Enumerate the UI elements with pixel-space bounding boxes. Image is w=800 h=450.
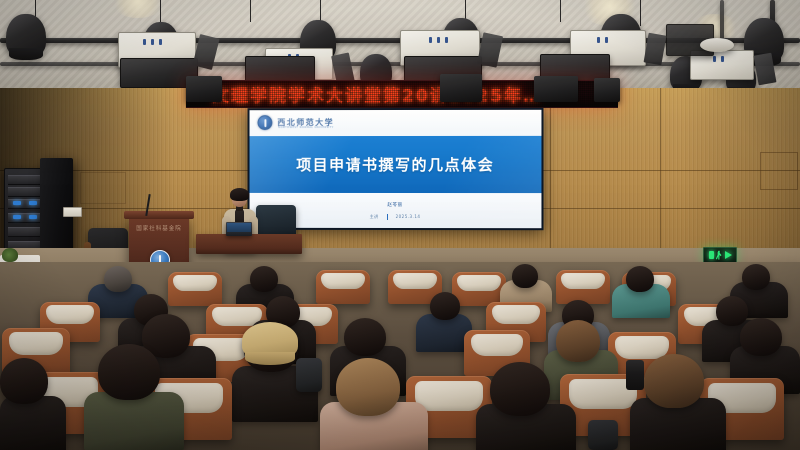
presenter-table <box>196 234 302 254</box>
audience-head <box>740 318 782 356</box>
audience-head <box>716 296 748 326</box>
audience-head <box>98 344 160 400</box>
slide-meta-divider <box>387 214 388 220</box>
audience-head <box>512 264 538 288</box>
seat <box>452 272 506 306</box>
backpack <box>588 420 618 450</box>
lamp-hang-wire <box>640 0 641 26</box>
auditorium-lecture-scene: 文理学院学术大讲堂第20讲2025年… 西北师范大学 NORTHWEST NOR… <box>0 0 800 450</box>
audience-head <box>104 266 132 292</box>
presenter-laptop <box>226 222 252 236</box>
slide-title-band: 项目申请书撰写的几点体会 <box>250 136 542 193</box>
audience-shoulders <box>84 392 184 450</box>
rack-led-display <box>29 215 37 219</box>
lamp-hang-wire <box>250 0 251 22</box>
seat <box>316 270 370 304</box>
par-can-light <box>6 14 46 58</box>
arrow-right-icon <box>725 251 732 259</box>
audience-head <box>336 358 400 416</box>
podium-top-surface <box>124 211 194 219</box>
audience-head <box>742 264 770 290</box>
audience-head <box>644 354 704 408</box>
baseball-cap <box>242 322 298 360</box>
lamp-hang-wire <box>160 0 161 24</box>
seat <box>168 272 222 306</box>
audience-head <box>490 362 550 416</box>
banner-occluding-lamp <box>594 78 620 102</box>
banner-occluding-lamp <box>534 76 578 102</box>
led-banner-text: 文理学院学术大讲堂第20讲2025年… <box>212 82 542 107</box>
rack-led-display <box>29 201 37 205</box>
lighting-truss-vertical <box>720 0 724 40</box>
audience-head <box>0 358 48 404</box>
running-person-icon <box>716 251 723 260</box>
seat <box>556 270 610 304</box>
audience-head <box>430 292 460 320</box>
water-tumbler <box>626 360 644 390</box>
potted-plant <box>2 248 18 262</box>
audience-head <box>556 320 600 362</box>
university-logo-subtitle: NORTHWEST NORMAL UNIVERSITY <box>278 126 333 129</box>
lamp-hang-wire <box>560 0 561 22</box>
audience-seating-area <box>0 262 800 450</box>
podium-label: 国家社科基金院 <box>129 224 189 232</box>
banner-occluding-lamp <box>440 74 482 102</box>
backpack <box>296 358 322 392</box>
audience-head <box>626 266 654 292</box>
audience-head <box>344 318 386 356</box>
slide-affiliation: 主讲 <box>370 214 379 220</box>
audience-shoulders <box>0 396 66 450</box>
rack-led-display <box>13 215 21 219</box>
presenter-hair <box>230 188 249 201</box>
slide-title-text: 项目申请书撰写的几点体会 <box>296 154 494 175</box>
emergency-exit-sign <box>703 247 737 263</box>
university-logo-icon <box>257 116 272 131</box>
audience-head <box>250 266 278 292</box>
banner-occluding-lamp <box>186 76 222 102</box>
exit-sign-bar <box>709 251 714 259</box>
rack-led-display <box>13 201 21 205</box>
wall-connection-plate <box>63 207 82 217</box>
disc-light-fixture <box>700 38 734 52</box>
slide-header: 西北师范大学 NORTHWEST NORMAL UNIVERSITY <box>250 110 542 136</box>
slide-date: 2025.3.14 <box>396 214 421 219</box>
